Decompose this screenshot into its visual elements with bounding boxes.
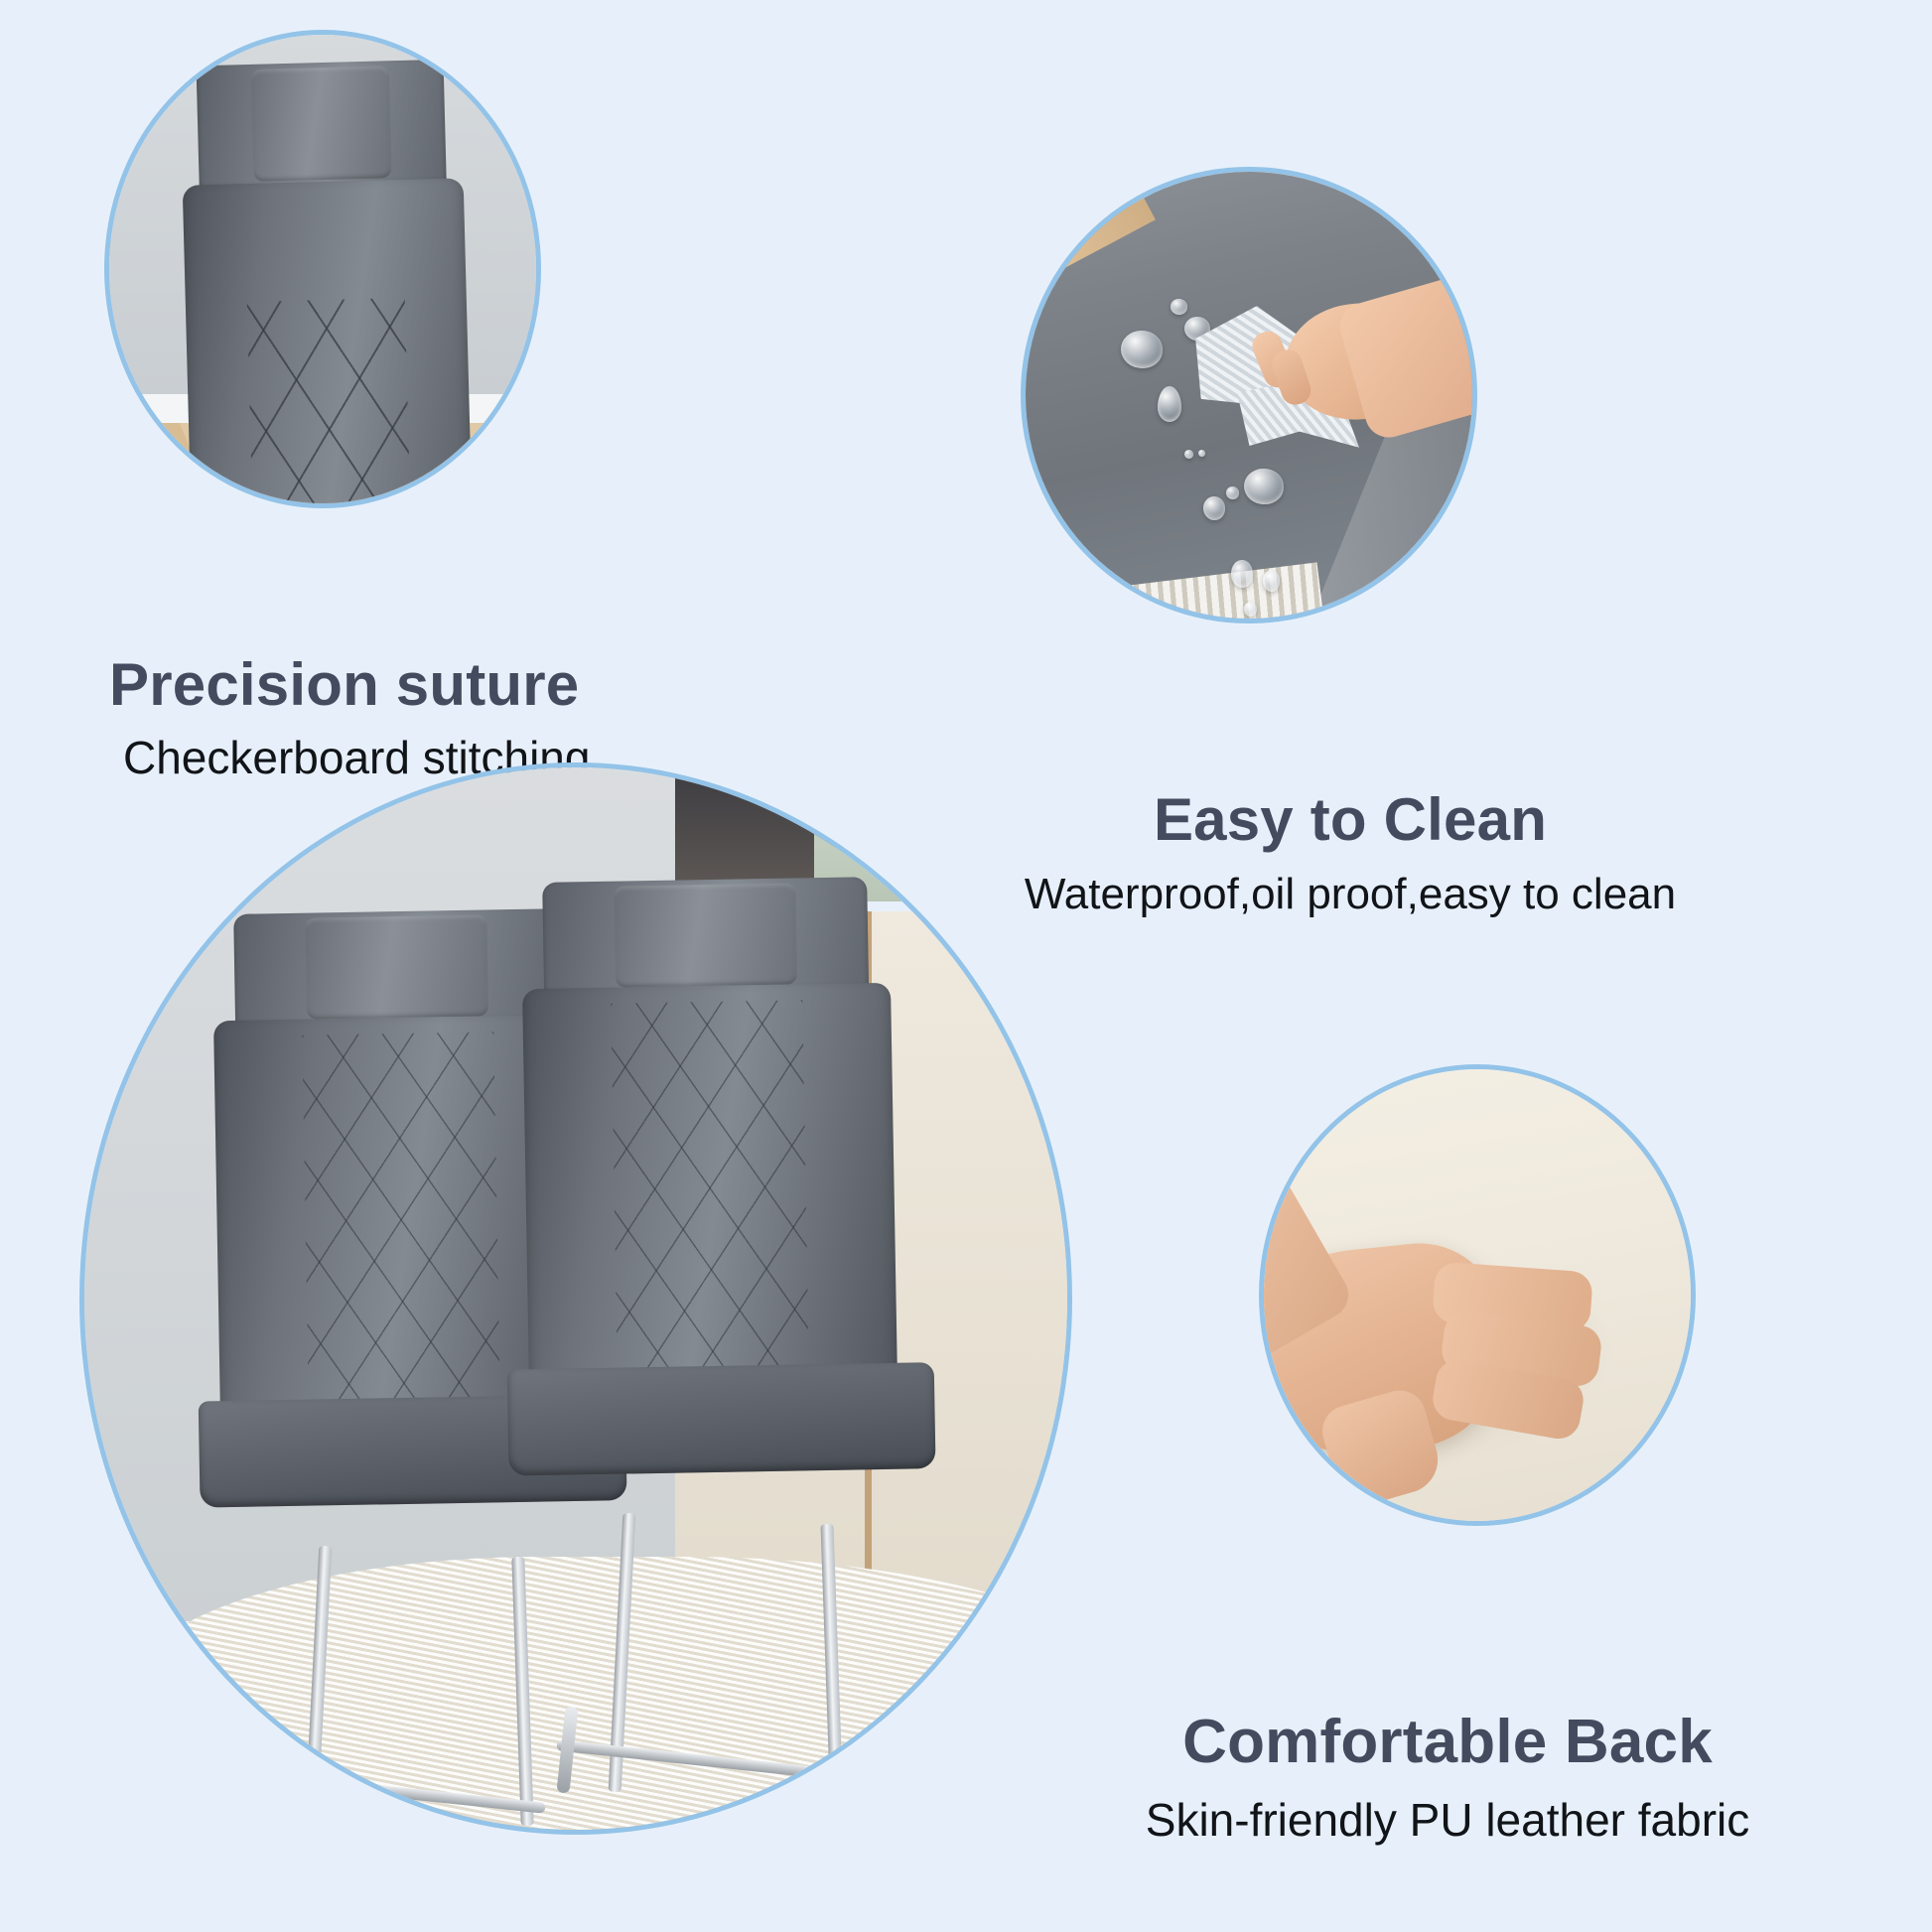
diamond-stitch-pattern (247, 298, 415, 508)
water-droplet (1171, 299, 1187, 315)
subtitle-comfortable-back: Skin-friendly PU leather fabric (1001, 1791, 1894, 1849)
chair-right (520, 877, 899, 1549)
scene-foam (1259, 1064, 1696, 1526)
water-droplet (1121, 331, 1163, 368)
water-droplet (1263, 570, 1280, 592)
water-droplet (1158, 386, 1181, 422)
plant-pot (934, 804, 1063, 922)
water-droplet (1226, 486, 1239, 499)
headrest (542, 877, 868, 996)
scene-stitching (104, 30, 541, 508)
infographic-canvas: Precision suture Checkerboard stitching … (0, 0, 1932, 1932)
title-precision-suture: Precision suture (109, 650, 590, 720)
water-droplet (1231, 560, 1253, 588)
scene-wipe (1021, 167, 1477, 623)
title-easy-to-clean: Easy to Clean (1023, 784, 1678, 856)
photo-precision-suture (104, 30, 541, 508)
seat (506, 1362, 935, 1476)
headrest (197, 60, 447, 191)
scene-room (79, 762, 1072, 1835)
diamond-stitch-pattern (611, 1001, 808, 1376)
chair-back-closeup (180, 59, 476, 508)
water-droplet (1203, 496, 1225, 520)
headrest (234, 909, 560, 1029)
photo-comfortable-back (1259, 1064, 1696, 1526)
text-easy-to-clean: Easy to Clean Waterproof,oil proof,easy … (1023, 784, 1678, 923)
photo-easy-to-clean (1021, 167, 1477, 623)
water-droplet (1244, 469, 1284, 504)
diamond-stitch-pattern (303, 1033, 500, 1408)
text-comfortable-back: Comfortable Back Skin-friendly PU leathe… (1001, 1706, 1894, 1849)
backrest (522, 983, 897, 1389)
subtitle-easy-to-clean: Waterproof,oil proof,easy to clean (1023, 866, 1678, 923)
water-droplet (1244, 602, 1257, 617)
photo-two-chairs (79, 762, 1072, 1835)
title-comfortable-back: Comfortable Back (1001, 1706, 1894, 1779)
backrest (183, 178, 478, 508)
